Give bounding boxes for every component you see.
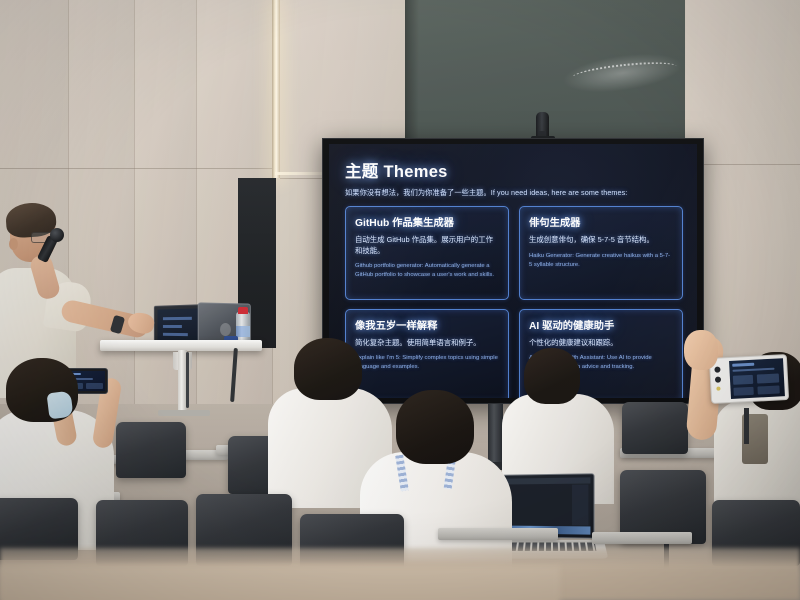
chair-leg — [744, 408, 749, 444]
audience-member-head — [524, 348, 580, 404]
presentation-photo: 主题 Themes 如果你没有想法，我们为你准备了一些主题。If you nee… — [0, 0, 800, 600]
desk-cable — [186, 352, 189, 408]
theme-card-title: AI 驱动的健康助手 — [529, 317, 673, 332]
bottle-label — [236, 326, 250, 337]
theme-card-zh: 生成创意俳句，确保 5-7-5 音节结构。 — [529, 235, 673, 246]
presenter-ear — [9, 238, 18, 250]
presentation-slide: 主题 Themes 如果你没有想法，我们为你准备了一些主题。If you nee… — [329, 144, 697, 398]
apple-logo-icon — [220, 323, 231, 336]
desk-foot — [158, 410, 210, 416]
code-editor-window — [505, 477, 590, 534]
camera-lens-icon — [714, 366, 720, 372]
audience-member-head — [396, 390, 474, 464]
room-table — [592, 532, 692, 544]
audience-hand — [684, 330, 718, 370]
laptop-screen-content — [157, 308, 200, 343]
wall-seam — [0, 168, 272, 169]
chair — [622, 402, 688, 454]
theme-card-zh: 自动生成 GitHub 作品集。展示用户的工作和技能。 — [355, 235, 499, 256]
theme-card-title: 俳句生成器 — [529, 214, 673, 229]
tv-stand-column — [488, 404, 503, 466]
theme-card-en: Explain like I'm 5: Simplify complex top… — [355, 354, 499, 372]
editor-toolbar — [505, 477, 590, 484]
slide-subtitle: 如果你没有想法，我们为你准备了一些主题。If you need ideas, h… — [345, 188, 683, 198]
theme-card-en: Haiku Generator: Generate creative haiku… — [529, 252, 673, 270]
theme-card: GitHub 作品集生成器 自动生成 GitHub 作品集。展示用户的工作和技能… — [345, 206, 509, 300]
theme-card: 像我五岁一样解释 简化复杂主题。使用简单语言和例子。 Explain like … — [345, 309, 509, 399]
vertical-light-strip — [272, 0, 280, 178]
phone-screen-preview — [729, 358, 785, 399]
foreground-blur — [0, 566, 560, 600]
theme-card-zh: 简化复杂主题。使用简单语言和例子。 — [355, 338, 499, 349]
theme-card-title: 像我五岁一样解释 — [355, 317, 499, 332]
theme-card-title: GitHub 作品集生成器 — [355, 214, 499, 229]
camera-flash-icon — [716, 387, 720, 391]
audience-member-head — [294, 338, 362, 400]
theme-card-en: Github portfolio generator: Automaticall… — [355, 262, 499, 280]
room-table — [438, 528, 558, 540]
camera-lens-icon — [715, 376, 721, 382]
editor-side-panel — [572, 485, 588, 526]
theme-card-grid: GitHub 作品集生成器 自动生成 GitHub 作品集。展示用户的工作和技能… — [345, 206, 683, 398]
smartphone-icon — [709, 354, 789, 404]
microphone-head — [50, 228, 64, 242]
chair — [116, 422, 186, 478]
display-screen: 主题 Themes 如果你没有想法，我们为你准备了一些主题。If you nee… — [322, 138, 704, 404]
slide-title: 主题 Themes — [345, 158, 683, 182]
theme-card: 俳句生成器 生成创意俳句，确保 5-7-5 音节结构。 Haiku Genera… — [519, 206, 683, 300]
theme-card-zh: 个性化的健康建议和跟踪。 — [529, 338, 673, 349]
bottle-cap — [238, 307, 248, 314]
